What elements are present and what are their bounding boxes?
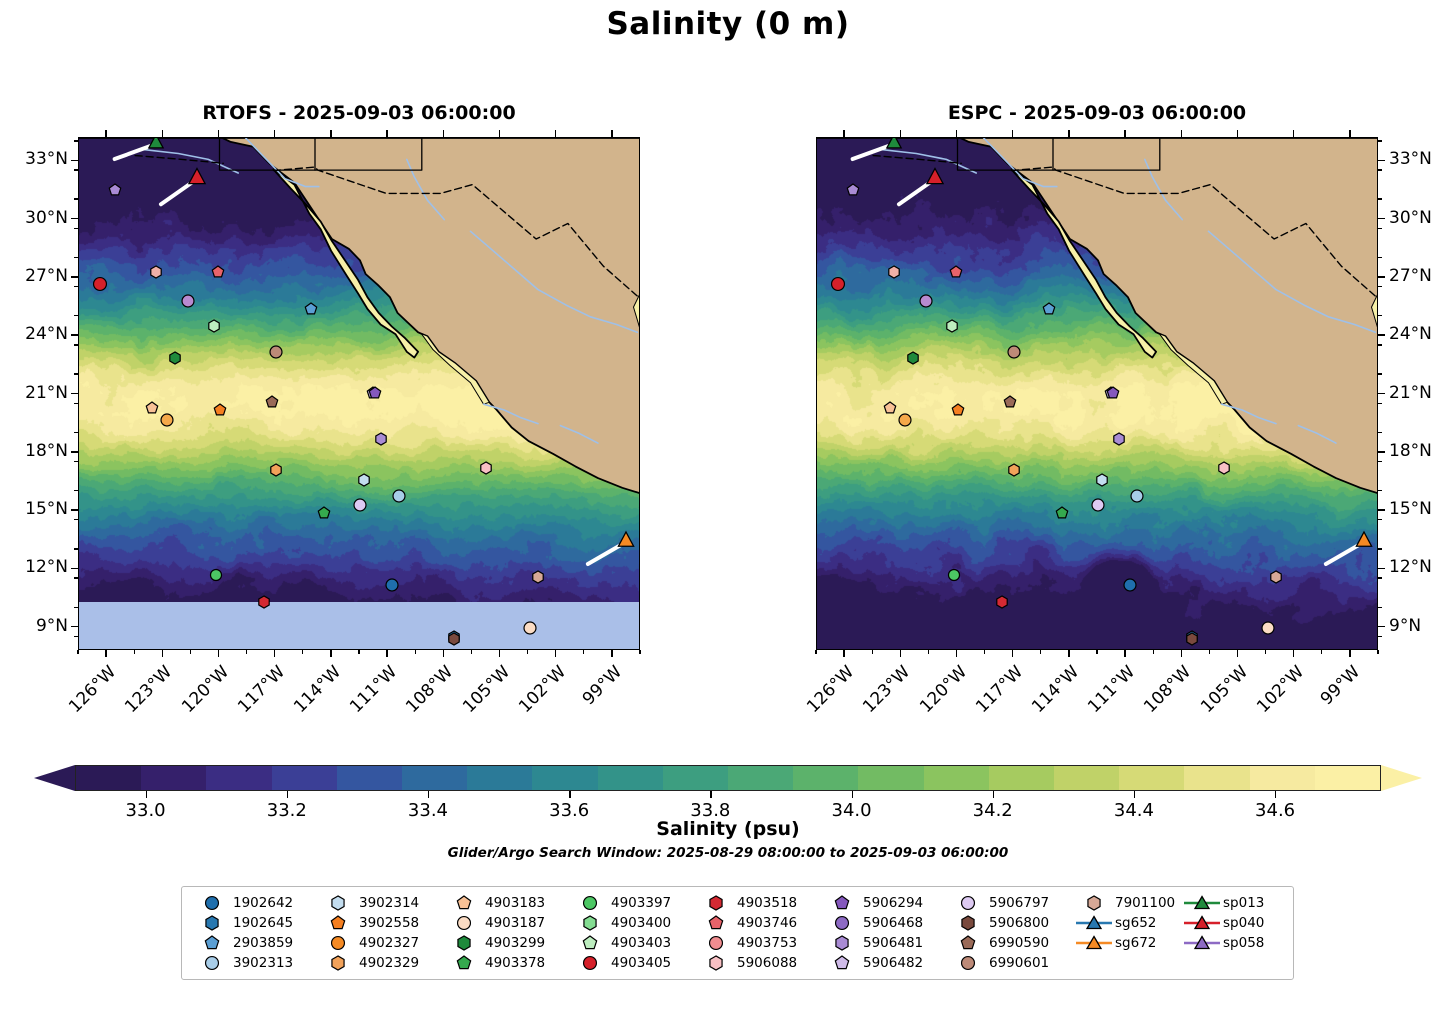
- y-tick-major: [71, 334, 78, 336]
- legend-item-7901100[interactable]: 7901100: [1073, 894, 1181, 911]
- y-axis-label: 9°N: [1389, 616, 1421, 636]
- colorbar-tick: [146, 791, 147, 798]
- legend-label: 3902558: [359, 915, 419, 931]
- x-tick-major: [274, 650, 276, 657]
- legend-item-4903183[interactable]: 4903183: [443, 894, 569, 911]
- y-tick-major: [1378, 276, 1385, 278]
- platform-marker-4903397[interactable]: [948, 569, 960, 581]
- x-tick-top: [1293, 130, 1295, 137]
- colorbar-tick: [569, 791, 570, 798]
- x-tick-major: [105, 650, 107, 657]
- y-tick-minor: [74, 198, 78, 199]
- x-tick-top: [105, 130, 107, 137]
- x-tick-minor: [1321, 650, 1322, 654]
- legend-label: sp040: [1223, 915, 1264, 931]
- legend-marker-pentagon-icon: [317, 914, 359, 931]
- y-tick-minor: [1378, 577, 1382, 578]
- x-tick-major: [1124, 650, 1126, 657]
- platform-marker-5906468[interactable]: [919, 295, 932, 308]
- legend-item-sp058[interactable]: sp058: [1181, 934, 1289, 951]
- y-tick-minor: [74, 577, 78, 578]
- legend-label: sp058: [1223, 935, 1264, 951]
- platform-marker-4902327[interactable]: [899, 413, 912, 426]
- platform-marker-5906800[interactable]: [1186, 633, 1198, 645]
- figure-root: Salinity (0 m) RTOFS - 2025-09-03 06:00:…: [0, 0, 1456, 1014]
- legend-marker-hexagon-icon: [947, 914, 989, 931]
- y-tick-minor: [74, 636, 78, 637]
- x-tick-major: [499, 650, 501, 657]
- legend-label: 7901100: [1115, 895, 1175, 911]
- legend-item-sp013[interactable]: sp013: [1181, 894, 1289, 911]
- x-tick-top: [443, 130, 445, 137]
- legend-item-5906294[interactable]: 5906294: [821, 894, 947, 911]
- platform-marker-3902314[interactable]: [1096, 474, 1108, 486]
- x-tick-top: [1237, 130, 1239, 137]
- platform-marker-7901100[interactable]: [1270, 571, 1282, 583]
- platform-marker-4902329[interactable]: [270, 464, 282, 476]
- legend-marker-hexagon-icon: [317, 954, 359, 971]
- y-tick-minor: [74, 286, 78, 287]
- platform-marker-4903299[interactable]: [907, 352, 919, 364]
- legend-marker-circle-icon: [947, 894, 989, 911]
- x-axis-label: 120°W: [913, 662, 971, 720]
- legend-label: sp013: [1223, 895, 1264, 911]
- x-tick-minor: [246, 650, 247, 654]
- colorbar-swatch-19: [1315, 766, 1380, 790]
- x-tick-major: [1237, 650, 1239, 657]
- legend-item-6990590[interactable]: 6990590: [947, 934, 1073, 951]
- legend-label: 4903753: [737, 935, 797, 951]
- legend-marker-triangle-icon: [1073, 934, 1115, 951]
- platform-marker-5906481[interactable]: [375, 433, 387, 445]
- x-tick-minor: [984, 650, 985, 654]
- x-axis-label: 123°W: [856, 662, 914, 720]
- legend-marker-hexagon-icon: [443, 934, 485, 951]
- legend-label: 5906482: [863, 955, 923, 971]
- y-axis-label: 12°N: [1389, 557, 1432, 577]
- x-tick-minor: [928, 650, 929, 654]
- colorbar-swatch-0: [76, 766, 141, 790]
- legend-item-2903859[interactable]: 2903859: [191, 934, 317, 951]
- platform-marker-4903299[interactable]: [169, 352, 181, 364]
- colorbar-extend-low: [34, 765, 75, 791]
- x-tick-major: [162, 650, 164, 657]
- x-tick-minor: [639, 650, 640, 654]
- y-axis-label: 24°N: [0, 324, 68, 344]
- x-tick-minor: [1040, 650, 1041, 654]
- platform-marker-4903183[interactable]: [146, 402, 158, 414]
- legend-item-sg672[interactable]: sg672: [1073, 934, 1181, 951]
- x-axis-label: 99°W: [568, 662, 626, 720]
- platform-marker-sp013[interactable]: [886, 137, 901, 149]
- legend-marker-hexagon-icon: [695, 894, 737, 911]
- landmass-mainland: [79, 138, 640, 494]
- legend-label: 4902327: [359, 935, 419, 951]
- x-tick-top: [611, 130, 613, 137]
- legend-item-4903403[interactable]: 4903403: [569, 934, 695, 951]
- legend-label: 4903378: [485, 955, 545, 971]
- x-axis-label: 120°W: [175, 662, 233, 720]
- legend-item-4903299[interactable]: 4903299: [443, 934, 569, 951]
- legend-item-4903405[interactable]: 4903405: [569, 954, 695, 971]
- platform-marker-3902313[interactable]: [1131, 489, 1144, 502]
- platform-legend[interactable]: 1902642190264529038593902313390231439025…: [181, 886, 1294, 980]
- platform-marker-4902327[interactable]: [161, 413, 174, 426]
- x-tick-major: [218, 650, 220, 657]
- x-tick-top: [843, 130, 845, 137]
- x-axis-label: 102°W: [512, 662, 570, 720]
- legend-label: 4902329: [359, 955, 419, 971]
- legend-label: 5906294: [863, 895, 923, 911]
- legend-marker-triangle-icon: [1073, 914, 1115, 931]
- platform-marker-4903183[interactable]: [884, 402, 896, 414]
- y-tick-minor: [1378, 519, 1382, 520]
- y-axis-label: 24°N: [1389, 324, 1432, 344]
- y-tick-minor: [74, 169, 78, 170]
- legend-label: 4903183: [485, 895, 545, 911]
- legend-label: 6990601: [989, 955, 1049, 971]
- platform-marker-4902329[interactable]: [1008, 464, 1020, 476]
- x-tick-minor: [190, 650, 191, 654]
- platform-marker-5906797[interactable]: [354, 499, 367, 512]
- platform-marker-sp040[interactable]: [927, 168, 944, 185]
- x-tick-minor: [358, 650, 359, 654]
- figure-title: Salinity (0 m): [0, 6, 1456, 42]
- x-axis-label: 111°W: [1081, 662, 1139, 720]
- legend-item-3902313[interactable]: 3902313: [191, 954, 317, 971]
- legend-item-5906481[interactable]: 5906481: [821, 934, 947, 951]
- y-tick-major: [1378, 334, 1385, 336]
- y-tick-minor: [74, 461, 78, 462]
- colorbar-swatch-18: [1250, 766, 1315, 790]
- x-tick-top: [386, 130, 388, 137]
- y-tick-minor: [1378, 344, 1382, 345]
- legend-item-5906800[interactable]: 5906800: [947, 914, 1073, 931]
- platform-marker-4903753[interactable]: [150, 266, 162, 278]
- platform-marker-4903405[interactable]: [93, 277, 107, 291]
- colorbar-swatch-14: [989, 766, 1054, 790]
- legend-column-0: 1902642190264529038593902313: [191, 894, 317, 971]
- colorbar-tick: [1134, 791, 1135, 798]
- y-tick-minor: [74, 373, 78, 374]
- colorbar-swatch-15: [1054, 766, 1119, 790]
- legend-marker-circle-icon: [191, 954, 233, 971]
- y-tick-major: [71, 509, 78, 511]
- platform-marker-4903187[interactable]: [1262, 621, 1275, 634]
- x-tick-minor: [77, 650, 78, 654]
- legend-marker-triangle-icon: [1181, 934, 1223, 951]
- y-tick-minor: [1378, 140, 1382, 141]
- colorbar-tick: [852, 791, 853, 798]
- platform-marker-6990601[interactable]: [1007, 345, 1020, 358]
- platform-marker-sp040[interactable]: [189, 168, 206, 185]
- y-tick-minor: [1378, 373, 1382, 374]
- y-axis-label: 30°N: [1389, 208, 1432, 228]
- x-tick-top: [1124, 130, 1126, 137]
- x-axis-label: 111°W: [343, 662, 401, 720]
- x-tick-top: [218, 130, 220, 137]
- x-axis-label: 105°W: [456, 662, 514, 720]
- legend-marker-pentagon-icon: [821, 954, 863, 971]
- legend-item-1902642[interactable]: 1902642: [191, 894, 317, 911]
- y-tick-minor: [1378, 228, 1382, 229]
- legend-label: sg652: [1115, 915, 1156, 931]
- x-axis-label: 114°W: [287, 662, 345, 720]
- legend-item-5906088[interactable]: 5906088: [695, 954, 821, 971]
- y-tick-major: [1378, 509, 1385, 511]
- x-axis-label: 108°W: [1137, 662, 1195, 720]
- legend-marker-hexagon-icon: [569, 914, 611, 931]
- y-tick-minor: [1378, 257, 1382, 258]
- platform-marker-3902558[interactable]: [214, 404, 226, 416]
- map-panel-rtofs[interactable]: [78, 137, 640, 650]
- y-tick-major: [1378, 451, 1385, 453]
- x-axis-label: 117°W: [231, 662, 289, 720]
- y-tick-minor: [74, 403, 78, 404]
- legend-label: 4903397: [611, 895, 671, 911]
- y-tick-major: [71, 451, 78, 453]
- platform-marker-1902642[interactable]: [1123, 578, 1136, 591]
- legend-marker-hexagon-icon: [821, 934, 863, 951]
- x-tick-top: [274, 130, 276, 137]
- legend-marker-circle-icon: [947, 954, 989, 971]
- legend-marker-pentagon-icon: [695, 914, 737, 931]
- legend-item-4903753[interactable]: 4903753: [695, 934, 821, 951]
- platform-marker-5906468[interactable]: [181, 295, 194, 308]
- x-tick-minor: [872, 650, 873, 654]
- platform-marker-1902642[interactable]: [385, 578, 398, 591]
- y-tick-major: [71, 626, 78, 628]
- y-tick-major: [1378, 568, 1385, 570]
- platform-marker-5906088[interactable]: [1218, 462, 1230, 474]
- x-tick-top: [162, 130, 164, 137]
- legend-marker-pentagon-icon: [443, 954, 485, 971]
- y-tick-minor: [74, 548, 78, 549]
- x-tick-major: [956, 650, 958, 657]
- x-tick-minor: [415, 650, 416, 654]
- legend-item-sg652[interactable]: sg652: [1073, 914, 1181, 931]
- legend-item-5906482[interactable]: 5906482: [821, 954, 947, 971]
- platform-marker-4903403[interactable]: [208, 320, 220, 332]
- y-axis-label: 18°N: [0, 441, 68, 461]
- x-tick-major: [843, 650, 845, 657]
- legend-item-4902329[interactable]: 4902329: [317, 954, 443, 971]
- legend-label: 3902314: [359, 895, 419, 911]
- x-tick-top: [900, 130, 902, 137]
- legend-item-4903397[interactable]: 4903397: [569, 894, 695, 911]
- x-axis-label: 105°W: [1194, 662, 1252, 720]
- y-tick-minor: [74, 140, 78, 141]
- legend-item-1902645[interactable]: 1902645: [191, 914, 317, 931]
- legend-label: 5906088: [737, 955, 797, 971]
- y-axis-label: 33°N: [1389, 149, 1432, 169]
- x-tick-minor: [1377, 650, 1378, 654]
- colorbar-tick: [710, 791, 711, 798]
- legend-label: 4903746: [737, 915, 797, 931]
- legend-label: 1902645: [233, 915, 293, 931]
- geography-layer: [817, 138, 1378, 650]
- colorbar-swatch-4: [337, 766, 402, 790]
- colorbar-tick: [993, 791, 994, 798]
- legend-marker-pentagon-icon: [191, 934, 233, 951]
- y-tick-major: [1378, 218, 1385, 220]
- x-tick-top: [1181, 130, 1183, 137]
- y-tick-minor: [74, 607, 78, 608]
- legend-marker-pentagon-icon: [443, 894, 485, 911]
- platform-marker-sp013[interactable]: [148, 137, 163, 149]
- x-tick-major: [555, 650, 557, 657]
- platform-marker-5906088[interactable]: [480, 462, 492, 474]
- platform-marker-4903378[interactable]: [1056, 507, 1068, 519]
- legend-marker-triangle-icon: [1181, 914, 1223, 931]
- platform-marker-4903753[interactable]: [888, 266, 900, 278]
- colorbar-swatch-10: [728, 766, 793, 790]
- platform-marker-2903859[interactable]: [1043, 303, 1055, 315]
- platform-marker-3902314[interactable]: [358, 474, 370, 486]
- legend-item-5906468[interactable]: 5906468: [821, 914, 947, 931]
- platform-marker-6990590[interactable]: [266, 396, 278, 408]
- search-window-caption: Glider/Argo Search Window: 2025-08-29 08…: [0, 845, 1456, 861]
- platform-marker-sg672[interactable]: [1356, 532, 1372, 548]
- platform-marker-sp058[interactable]: [847, 184, 859, 196]
- legend-column-7: 7901100 sg652 sg672: [1073, 894, 1181, 971]
- legend-marker-hexagon-icon: [1073, 894, 1115, 911]
- x-tick-major: [330, 650, 332, 657]
- y-tick-major: [71, 276, 78, 278]
- platform-marker-5906797[interactable]: [1092, 499, 1105, 512]
- legend-item-4903518[interactable]: 4903518: [695, 894, 821, 911]
- x-tick-minor: [1096, 650, 1097, 654]
- y-tick-minor: [1378, 490, 1382, 491]
- legend-marker-circle-icon: [191, 894, 233, 911]
- legend-marker-triangle-icon: [1181, 894, 1223, 911]
- x-tick-minor: [1153, 650, 1154, 654]
- x-tick-major: [1012, 650, 1014, 657]
- y-tick-minor: [74, 344, 78, 345]
- platform-marker-6990590[interactable]: [1004, 396, 1016, 408]
- y-tick-minor: [1378, 636, 1382, 637]
- y-tick-minor: [1378, 461, 1382, 462]
- legend-item-4903400[interactable]: 4903400: [569, 914, 695, 931]
- platform-marker-5906800[interactable]: [448, 633, 460, 645]
- legend-column-6: 5906797590680069905906990601: [947, 894, 1073, 971]
- legend-item-4903187[interactable]: 4903187: [443, 914, 569, 931]
- legend-item-3902314[interactable]: 3902314: [317, 894, 443, 911]
- platform-marker-4903405[interactable]: [831, 277, 845, 291]
- x-tick-minor: [471, 650, 472, 654]
- platform-marker-6990601[interactable]: [269, 345, 282, 358]
- platform-marker-4903518[interactable]: [258, 596, 270, 608]
- x-tick-major: [1181, 650, 1183, 657]
- y-tick-major: [1378, 160, 1385, 162]
- x-tick-top: [1349, 130, 1351, 137]
- colorbar-swatch-11: [793, 766, 858, 790]
- map-panel-espc[interactable]: [816, 137, 1378, 650]
- x-tick-minor: [134, 650, 135, 654]
- legend-column-2: 4903183490318749032994903378: [443, 894, 569, 971]
- platform-marker-2903859[interactable]: [305, 303, 317, 315]
- platform-marker-7901100[interactable]: [532, 571, 544, 583]
- colorbar-swatch-12: [858, 766, 923, 790]
- x-tick-top: [499, 130, 501, 137]
- legend-item-6990601[interactable]: 6990601: [947, 954, 1073, 971]
- platform-marker-3902558[interactable]: [952, 404, 964, 416]
- legend-column-1: 3902314390255849023274902329: [317, 894, 443, 971]
- y-tick-minor: [1378, 548, 1382, 549]
- legend-label: 5906800: [989, 915, 1049, 931]
- colorbar-swatch-1: [141, 766, 206, 790]
- x-axis-label: 99°W: [1306, 662, 1364, 720]
- legend-item-4902327[interactable]: 4902327: [317, 934, 443, 951]
- y-axis-label: 21°N: [0, 383, 68, 403]
- platform-marker-4903746[interactable]: [212, 266, 224, 278]
- colorbar-swatch-3: [272, 766, 337, 790]
- platform-marker-4903378[interactable]: [318, 507, 330, 519]
- x-tick-minor: [1265, 650, 1266, 654]
- platform-marker-5906294[interactable]: [369, 387, 381, 399]
- x-axis-label: 126°W: [62, 662, 120, 720]
- y-axis-label: 21°N: [1389, 383, 1432, 403]
- legend-label: 1902642: [233, 895, 293, 911]
- y-axis-label: 33°N: [0, 149, 68, 169]
- platform-marker-4903397[interactable]: [210, 569, 222, 581]
- legend-column-8: sp013 sp040 sp058: [1181, 894, 1289, 971]
- colorbar-swatch-2: [206, 766, 271, 790]
- legend-label: 4903518: [737, 895, 797, 911]
- colorbar-swatch-7: [532, 766, 597, 790]
- colorbar-swatch-16: [1119, 766, 1184, 790]
- legend-marker-hexagon-icon: [695, 954, 737, 971]
- legend-marker-hexagon-icon: [317, 894, 359, 911]
- legend-marker-circle-icon: [695, 934, 737, 951]
- platform-marker-5906294[interactable]: [1107, 387, 1119, 399]
- x-tick-minor: [583, 650, 584, 654]
- legend-label: 4903403: [611, 935, 671, 951]
- legend-item-sp040[interactable]: sp040: [1181, 914, 1289, 931]
- legend-column-4: 4903518490374649037535906088: [695, 894, 821, 971]
- legend-marker-circle-icon: [317, 934, 359, 951]
- legend-item-5906797[interactable]: 5906797: [947, 894, 1073, 911]
- y-tick-minor: [1378, 403, 1382, 404]
- legend-label: 5906797: [989, 895, 1049, 911]
- platform-marker-4903187[interactable]: [524, 621, 537, 634]
- y-axis-label: 18°N: [1389, 441, 1432, 461]
- platform-marker-3902313[interactable]: [393, 489, 406, 502]
- platform-marker-4903746[interactable]: [950, 266, 962, 278]
- colorbar-gradient: [75, 765, 1381, 791]
- y-axis-label: 9°N: [0, 616, 68, 636]
- landmass-mainland: [817, 138, 1378, 494]
- colorbar[interactable]: 33.033.233.433.633.834.034.234.434.6: [34, 765, 1422, 791]
- platform-marker-5906481[interactable]: [1113, 433, 1125, 445]
- colorbar-swatch-13: [924, 766, 989, 790]
- platform-marker-sp058[interactable]: [109, 184, 121, 196]
- x-tick-top: [555, 130, 557, 137]
- panel-title-espc: ESPC - 2025-09-03 06:00:00: [816, 102, 1378, 124]
- x-tick-major: [1068, 650, 1070, 657]
- x-axis-label: 126°W: [800, 662, 858, 720]
- legend-label: 4903400: [611, 915, 671, 931]
- platform-marker-sg672[interactable]: [618, 532, 634, 548]
- legend-item-4903746[interactable]: 4903746: [695, 914, 821, 931]
- platform-marker-4903518[interactable]: [996, 596, 1008, 608]
- colorbar-tick: [287, 791, 288, 798]
- x-tick-top: [1012, 130, 1014, 137]
- platform-marker-4903403[interactable]: [946, 320, 958, 332]
- legend-item-4903378[interactable]: 4903378: [443, 954, 569, 971]
- legend-label: 6990590: [989, 935, 1049, 951]
- legend-item-3902558[interactable]: 3902558: [317, 914, 443, 931]
